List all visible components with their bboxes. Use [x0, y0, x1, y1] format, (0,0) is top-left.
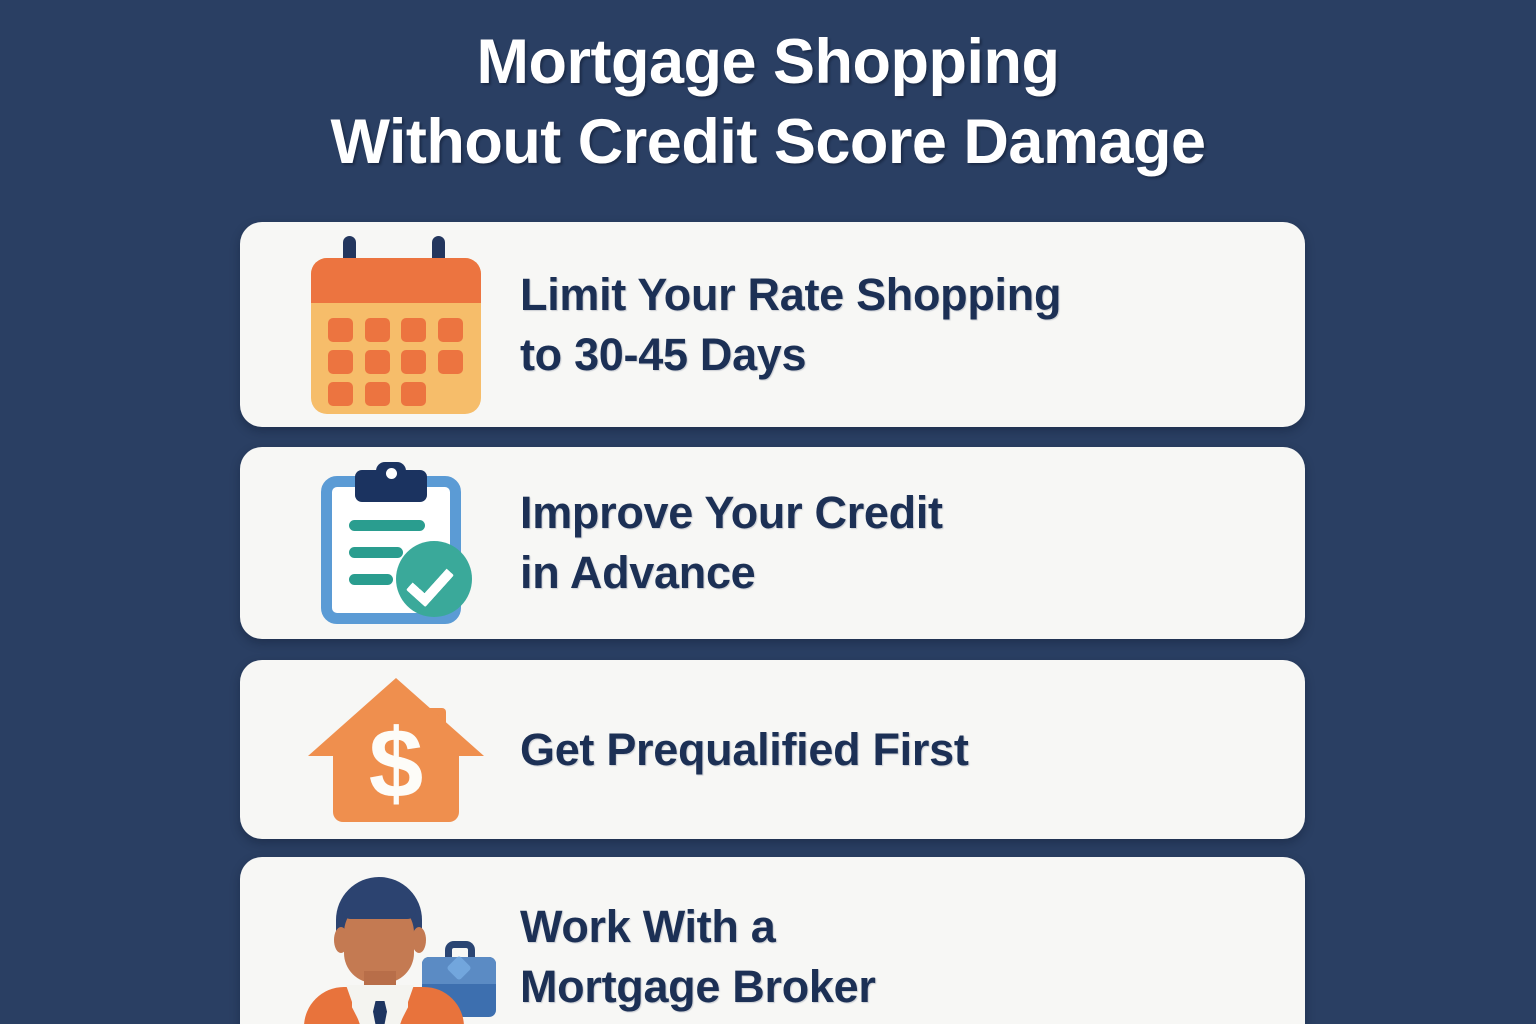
check-circle-icon — [396, 541, 472, 617]
tip-card-text: Improve Your Credit in Advance — [520, 483, 943, 603]
tip-card-get-prequalified[interactable]: $ Get Prequalified First — [240, 660, 1305, 839]
calendar-icon — [296, 222, 496, 427]
dollar-sign-glyph: $ — [308, 714, 484, 812]
tip-line-1: Limit Your Rate Shopping — [520, 265, 1061, 325]
infographic-poster: Mortgage Shopping Without Credit Score D… — [0, 0, 1536, 1024]
person-hair-fringe — [342, 899, 416, 919]
tip-line-2: to 30-45 Days — [520, 325, 1061, 385]
house-dollar-icon: $ — [296, 660, 496, 839]
tip-line-1: Improve Your Credit — [520, 483, 943, 543]
tip-line-1: Get Prequalified First — [520, 720, 969, 780]
title-line-1: Mortgage Shopping — [0, 22, 1536, 102]
page-title: Mortgage Shopping Without Credit Score D… — [0, 22, 1536, 182]
tip-line-1: Work With a — [520, 897, 876, 957]
broker-briefcase-icon — [296, 857, 496, 1024]
tip-line-2: in Advance — [520, 543, 943, 603]
tip-line-2: Mortgage Broker — [520, 957, 876, 1017]
clipboard-clip-hole — [386, 468, 397, 479]
title-line-2: Without Credit Score Damage — [0, 102, 1536, 182]
calendar-header-band — [311, 258, 481, 303]
tip-card-limit-rate-shopping[interactable]: Limit Your Rate Shopping to 30-45 Days — [240, 222, 1305, 427]
person-ear-right — [412, 927, 426, 953]
tip-card-text: Get Prequalified First — [520, 720, 969, 780]
tip-card-text: Limit Your Rate Shopping to 30-45 Days — [520, 265, 1061, 385]
clipboard-line-1 — [349, 520, 425, 531]
clipboard-check-icon — [296, 447, 496, 639]
tip-card-improve-credit[interactable]: Improve Your Credit in Advance — [240, 447, 1305, 639]
person-tie — [373, 1001, 387, 1024]
tip-card-text: Work With a Mortgage Broker — [520, 897, 876, 1017]
clipboard-line-3 — [349, 574, 393, 585]
clipboard-line-2 — [349, 547, 403, 558]
tip-card-work-with-broker[interactable]: Work With a Mortgage Broker — [240, 857, 1305, 1024]
calendar-date-grid — [328, 318, 464, 406]
